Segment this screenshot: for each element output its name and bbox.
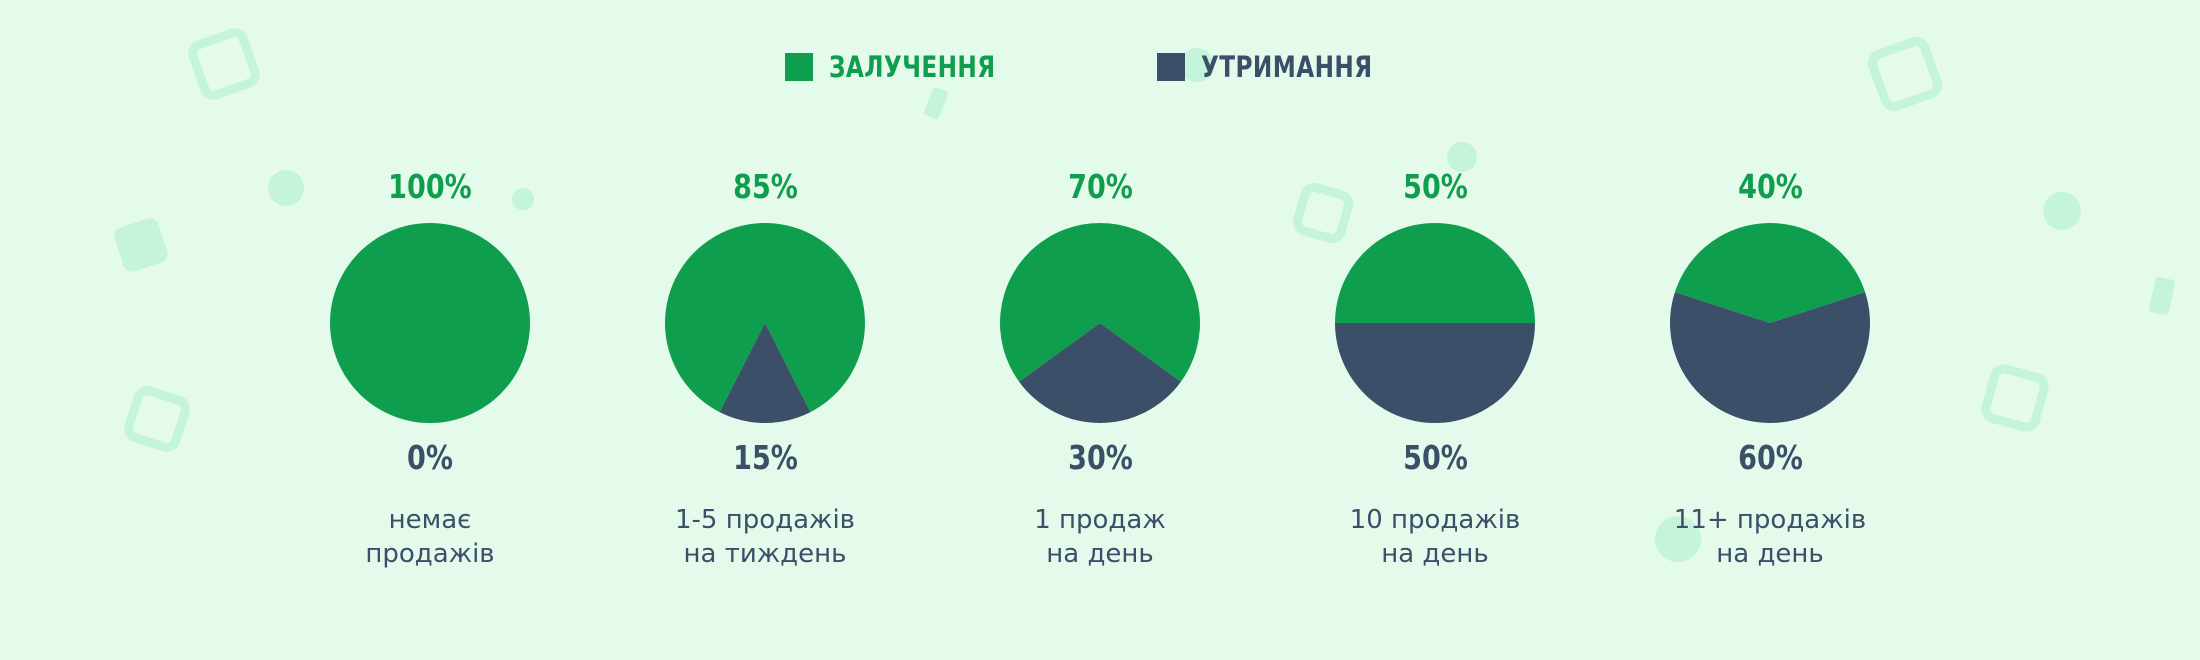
retention-percent-label: 30% — [1068, 441, 1133, 474]
legend-label: ЗАЛУЧЕННЯ — [829, 50, 995, 84]
decorative-square-icon — [112, 216, 170, 274]
legend-item-engagement[interactable]: ЗАЛУЧЕННЯ — [785, 50, 1037, 84]
engagement-percent-label: 40% — [1738, 170, 1803, 203]
pie-chart-group: 70%30%1 продаж на день — [1000, 170, 1200, 572]
pie-category-caption: 1-5 продажів на тиждень — [675, 504, 855, 572]
pie-chart[interactable] — [330, 223, 530, 423]
decorative-square-outline-icon — [120, 382, 193, 455]
retention-percent-label: 15% — [733, 441, 798, 474]
chart-legend: ЗАЛУЧЕННЯУТРИМАННЯ — [0, 50, 2200, 84]
pie-chart-group: 40%60%11+ продажів на день — [1670, 170, 1870, 572]
pie-slice-engagement — [330, 223, 530, 423]
pie-chart-row: 100%0%немає продажів85%15%1-5 продажів н… — [330, 170, 1870, 572]
pie-category-caption: 10 продажів на день — [1350, 504, 1521, 572]
decorative-sliver-icon — [2148, 276, 2175, 315]
decorative-square-outline-icon — [1978, 361, 2051, 434]
pie-chart[interactable] — [1335, 223, 1535, 423]
pie-chart-group: 100%0%немає продажів — [330, 170, 530, 572]
legend-label: УТРИМАННЯ — [1201, 50, 1372, 84]
infographic-canvas: ЗАЛУЧЕННЯУТРИМАННЯ 100%0%немає продажів8… — [0, 0, 2200, 660]
engagement-percent-label: 70% — [1068, 170, 1133, 203]
pie-category-caption: 1 продаж на день — [1034, 504, 1166, 572]
pie-category-caption: немає продажів — [365, 504, 494, 572]
legend-swatch-engagement-icon — [785, 53, 813, 81]
pie-category-caption: 11+ продажів на день — [1674, 504, 1866, 572]
pie-slice-retention — [1335, 323, 1535, 423]
engagement-percent-label: 50% — [1403, 170, 1468, 203]
decorative-circle-icon — [268, 170, 304, 206]
legend-swatch-retention-icon — [1157, 53, 1185, 81]
engagement-percent-label: 100% — [388, 170, 472, 203]
legend-item-retention[interactable]: УТРИМАННЯ — [1157, 50, 1415, 84]
decorative-sliver-icon — [923, 86, 949, 120]
engagement-percent-label: 85% — [733, 170, 798, 203]
pie-chart[interactable] — [1670, 223, 1870, 423]
pie-slice-engagement — [1335, 223, 1535, 323]
pie-chart-group: 50%50%10 продажів на день — [1335, 170, 1535, 572]
pie-chart[interactable] — [665, 223, 865, 423]
pie-chart-group: 85%15%1-5 продажів на тиждень — [665, 170, 865, 572]
retention-percent-label: 0% — [407, 441, 453, 474]
retention-percent-label: 60% — [1738, 441, 1803, 474]
decorative-circle-icon — [2043, 192, 2081, 230]
pie-chart[interactable] — [1000, 223, 1200, 423]
retention-percent-label: 50% — [1403, 441, 1468, 474]
